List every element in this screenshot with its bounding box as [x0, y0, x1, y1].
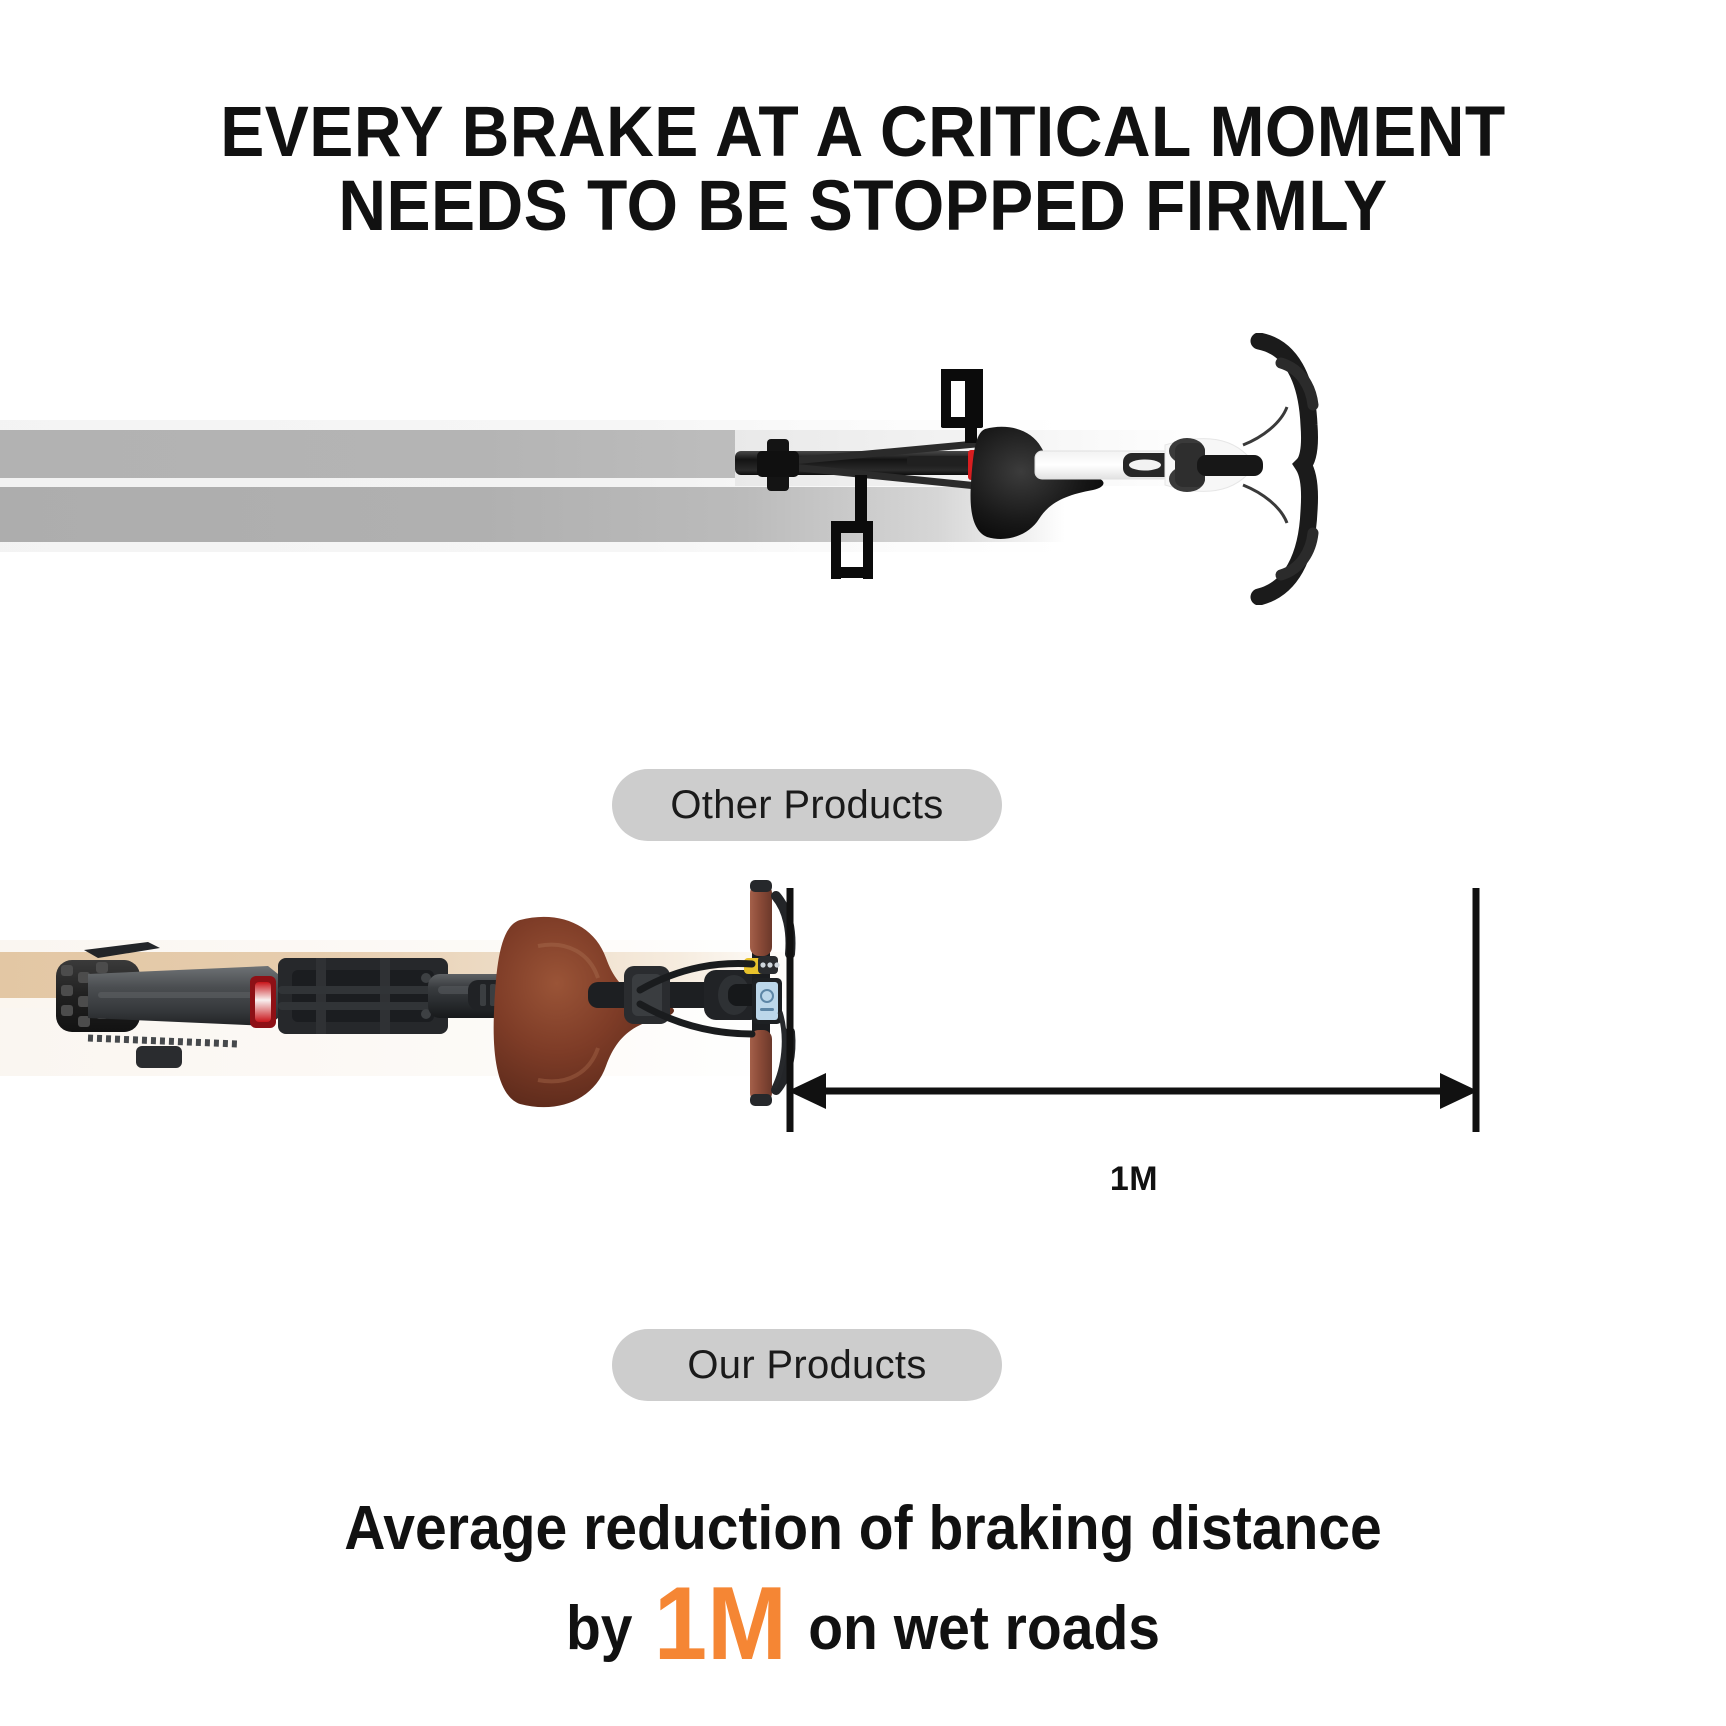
footer-highlight-value: 1M	[648, 1566, 792, 1682]
infographic-canvas: EVERY BRAKE AT A CRITICAL MOMENT NEEDS T…	[0, 0, 1726, 1726]
headline-line-2: NEEDS TO BE STOPPED FIRMLY	[60, 170, 1665, 244]
tail-light	[255, 982, 271, 1022]
footer-line-2: by 1M on wet roads	[69, 1585, 1657, 1668]
road-bike-illustration	[735, 333, 1355, 605]
arrow-left-icon	[788, 1073, 826, 1109]
headline-line-1: EVERY BRAKE AT A CRITICAL MOMENT	[60, 96, 1665, 170]
footer-line-1: Average reduction of braking distance	[69, 1495, 1657, 1563]
label-other-products: Other Products	[612, 769, 1002, 841]
page-title: EVERY BRAKE AT A CRITICAL MOMENT NEEDS T…	[60, 96, 1665, 244]
rear-rack	[278, 958, 448, 1034]
footer-suffix: on wet roads	[808, 1594, 1160, 1663]
pedal-lower	[831, 475, 873, 579]
measurement-dimension	[770, 860, 1510, 1160]
footer-prefix: by	[566, 1594, 633, 1663]
grip-upper	[750, 884, 772, 956]
ebike-illustration	[28, 862, 828, 1124]
arrow-right-icon	[1440, 1073, 1478, 1109]
label-our-products: Our Products	[612, 1329, 1002, 1401]
grip-lower	[750, 1030, 772, 1102]
measurement-label: 1M	[1070, 1160, 1198, 1199]
